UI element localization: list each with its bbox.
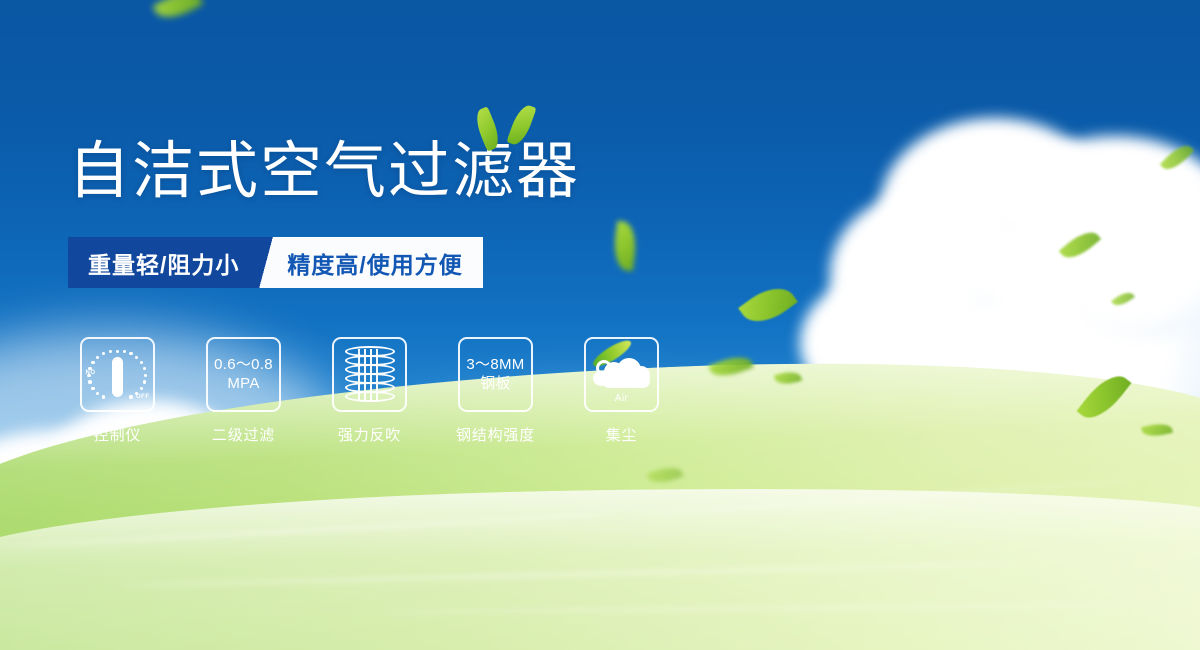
floating-leaf bbox=[738, 278, 798, 333]
feature-icon-box: 3〜8MM 钢板 bbox=[458, 337, 533, 412]
pressure-line-2: MPA bbox=[214, 375, 273, 394]
cloud-base bbox=[602, 374, 650, 388]
dial-pointer bbox=[112, 357, 123, 397]
feature-icon-box: NO OFF bbox=[80, 337, 155, 412]
dial-off-label: OFF bbox=[136, 394, 150, 400]
steel-line-1: 3〜8MM bbox=[466, 356, 524, 375]
feature-item-steel[interactable]: 3〜8MM 钢板 钢结构强度 bbox=[458, 337, 533, 445]
feature-item-dust[interactable]: Air 集尘 bbox=[584, 337, 659, 445]
leaf-sprout-icon bbox=[473, 102, 543, 150]
control-dial-icon: NO OFF bbox=[87, 345, 149, 405]
title-block: 自洁式空气过滤器 bbox=[68, 140, 580, 204]
subtitle-left-text: 重量轻/阻力小 bbox=[68, 237, 255, 288]
coil-spiral-icon bbox=[345, 346, 395, 404]
subtitle-separator bbox=[255, 237, 281, 288]
feature-item-blowback[interactable]: 强力反吹 bbox=[332, 337, 407, 445]
feature-label: 强力反吹 bbox=[338, 424, 401, 445]
steel-line-2: 钢板 bbox=[466, 375, 524, 394]
feature-label: 钢结构强度 bbox=[456, 424, 535, 445]
feature-icon-box bbox=[332, 337, 407, 412]
floating-leaf bbox=[153, 0, 204, 26]
banner-hero: 自洁式空气过滤器 重量轻/阻力小 精度高/使用方便 bbox=[0, 0, 1200, 650]
feature-label: 控制仪 bbox=[94, 424, 141, 445]
floating-leaf bbox=[611, 221, 639, 272]
feature-item-pressure[interactable]: 0.6〜0.8 MPA 二级过滤 bbox=[206, 337, 281, 445]
dial-on-label: NO bbox=[86, 370, 96, 376]
feature-list: NO OFF 控制仪 0.6〜0.8 MPA 二级过滤 bbox=[80, 337, 659, 445]
pressure-text-icon: 0.6〜0.8 MPA bbox=[214, 356, 273, 393]
steel-plate-text-icon: 3〜8MM 钢板 bbox=[466, 356, 524, 393]
cloud-air-icon: Air bbox=[592, 350, 652, 400]
pressure-line-1: 0.6〜0.8 bbox=[214, 356, 273, 375]
feature-label: 二级过滤 bbox=[212, 424, 275, 445]
feature-icon-box: 0.6〜0.8 MPA bbox=[206, 337, 281, 412]
air-label: Air bbox=[592, 393, 652, 404]
feature-label: 集尘 bbox=[606, 424, 638, 445]
subtitle-right-text: 精度高/使用方便 bbox=[281, 237, 482, 288]
feature-item-control[interactable]: NO OFF 控制仪 bbox=[80, 337, 155, 445]
feature-icon-box: Air bbox=[584, 337, 659, 412]
subtitle-bar: 重量轻/阻力小 精度高/使用方便 bbox=[68, 237, 483, 288]
